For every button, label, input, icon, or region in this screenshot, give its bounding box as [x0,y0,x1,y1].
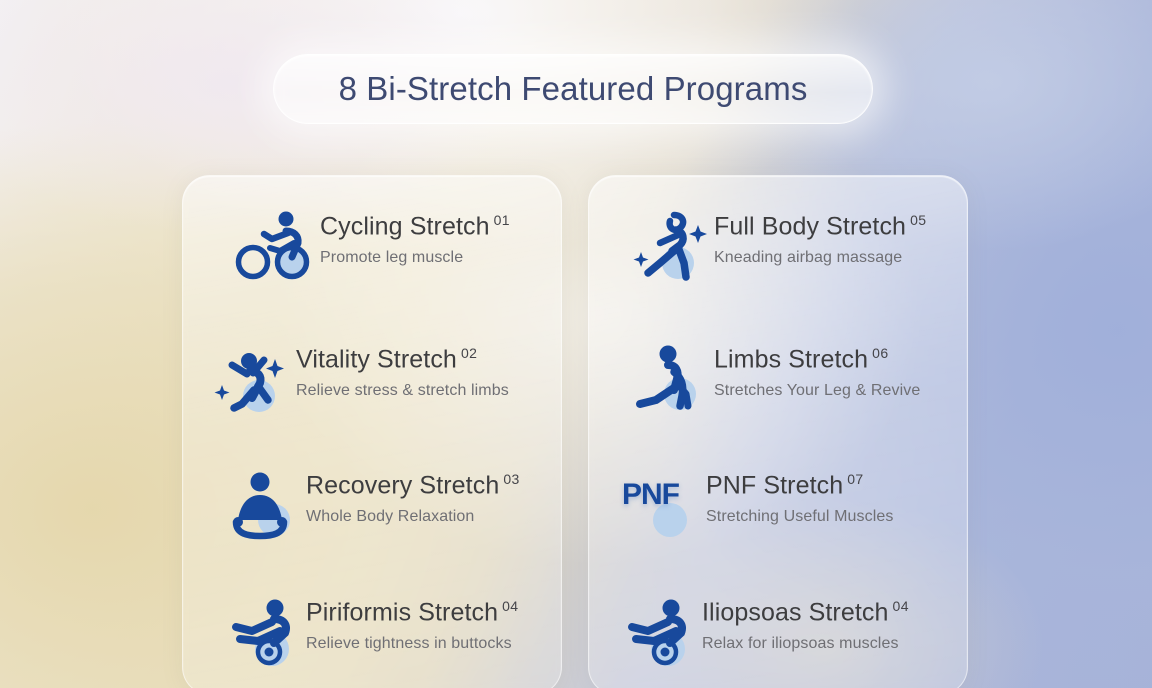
program-title: Limbs Stretch06 [714,346,920,373]
program-item-text: PNF Stretch07 Stretching Useful Muscles [706,462,893,526]
cycling-icon [236,205,320,289]
full-body-running-icon [630,205,714,289]
program-subtitle: Relieve stress & stretch limbs [296,382,509,400]
program-title-label: Recovery Stretch [306,471,499,499]
program-title: PNF Stretch07 [706,472,893,499]
program-item-full-body-stretch[interactable]: Full Body Stretch05 Kneading airbag mass… [630,203,926,295]
page-root: 8 Bi-Stretch Featured Programs Cycling S… [0,0,1152,688]
program-title-label: Cycling Stretch [320,212,490,240]
program-subtitle: Stretches Your Leg & Revive [714,382,920,400]
program-title-label: Full Body Stretch [714,212,906,240]
program-item-text: Iliopsoas Stretch04 Relax for iliopsoas … [702,589,909,653]
program-title-label: Iliopsoas Stretch [702,598,889,626]
program-number: 05 [910,212,926,228]
program-item-text: Cycling Stretch01 Promote leg muscle [320,203,510,267]
program-subtitle: Stretching Useful Muscles [706,508,893,526]
page-title-pill: 8 Bi-Stretch Featured Programs [273,54,873,124]
program-item-text: Full Body Stretch05 Kneading airbag mass… [714,203,926,267]
pnf-logo-icon: PNF [622,464,706,548]
program-subtitle: Whole Body Relaxation [306,508,520,526]
iliopsoas-seated-icon [618,591,702,675]
program-number: 06 [872,345,888,361]
vitality-jump-icon [212,338,296,422]
program-item-vitality-stretch[interactable]: Vitality Stretch02 Relieve stress & stre… [212,336,509,428]
program-title: Full Body Stretch05 [714,213,926,240]
program-item-text: Recovery Stretch03 Whole Body Relaxation [306,462,520,526]
program-item-text: Limbs Stretch06 Stretches Your Leg & Rev… [714,336,920,400]
program-title: Piriformis Stretch04 [306,599,518,626]
meditation-lotus-icon [222,464,306,548]
program-item-cycling-stretch[interactable]: Cycling Stretch01 Promote leg muscle [236,203,510,295]
program-title-label: PNF Stretch [706,471,843,499]
program-item-text: Vitality Stretch02 Relieve stress & stre… [296,336,509,400]
page-title: 8 Bi-Stretch Featured Programs [339,70,808,108]
piriformis-seated-icon [222,591,306,675]
program-subtitle: Promote leg muscle [320,249,510,267]
program-title-label: Piriformis Stretch [306,598,498,626]
program-number: 07 [847,471,863,487]
program-title: Iliopsoas Stretch04 [702,599,909,626]
program-item-limbs-stretch[interactable]: Limbs Stretch06 Stretches Your Leg & Rev… [630,336,920,428]
program-item-piriformis-stretch[interactable]: Piriformis Stretch04 Relieve tightness i… [222,589,518,681]
program-title: Vitality Stretch02 [296,346,509,373]
program-number: 04 [893,598,909,614]
pnf-logo-text: PNF [622,478,706,512]
program-subtitle: Kneading airbag massage [714,249,926,267]
program-title-label: Vitality Stretch [296,345,457,373]
program-number: 04 [502,598,518,614]
program-subtitle: Relax for iliopsoas muscles [702,635,909,653]
program-item-iliopsoas-stretch[interactable]: Iliopsoas Stretch04 Relax for iliopsoas … [618,589,909,681]
program-title: Recovery Stretch03 [306,472,520,499]
program-number: 01 [494,212,510,228]
program-title-label: Limbs Stretch [714,345,868,373]
program-number: 02 [461,345,477,361]
program-subtitle: Relieve tightness in buttocks [306,635,518,653]
program-number: 03 [503,471,519,487]
program-item-recovery-stretch[interactable]: Recovery Stretch03 Whole Body Relaxation [222,462,520,554]
program-item-text: Piriformis Stretch04 Relieve tightness i… [306,589,518,653]
program-title: Cycling Stretch01 [320,213,510,240]
limbs-lunge-icon [630,338,714,422]
program-item-pnf-stretch[interactable]: PNF PNF Stretch07 Stretching Useful Musc… [622,462,893,554]
